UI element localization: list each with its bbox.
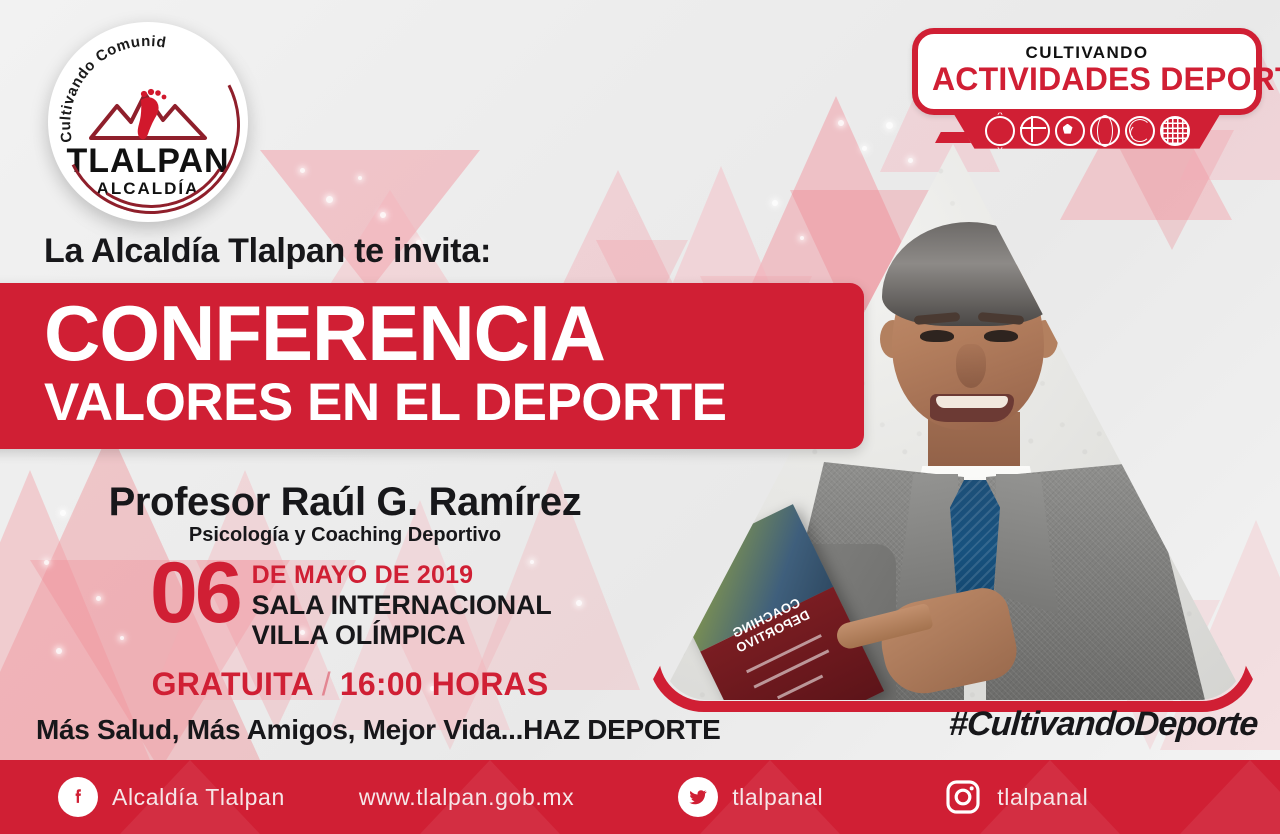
conference-title-block: CONFERENCIA VALORES EN EL DEPORTE bbox=[0, 283, 864, 449]
sparkle-dot bbox=[326, 196, 333, 203]
sparkle-dot bbox=[44, 560, 49, 565]
sparkle-dot bbox=[576, 600, 582, 606]
instagram-icon bbox=[943, 777, 983, 817]
footer-twitter[interactable]: tlalpanal bbox=[678, 777, 823, 817]
footer-instagram-label: tlalpanal bbox=[997, 784, 1088, 811]
footer-bar: Alcaldía Tlalpan www.tlalpan.gob.mx tlal… bbox=[0, 760, 1280, 834]
sports-program-badge: CULTIVANDO ACTIVIDADES DEPORTIVAS bbox=[912, 28, 1262, 149]
sparkle-dot bbox=[56, 648, 62, 654]
campaign-hashtag: #CultivandoDeporte bbox=[948, 705, 1259, 744]
sparkle-dot bbox=[120, 636, 124, 640]
sparkle-dot bbox=[380, 212, 386, 218]
conference-subtitle: VALORES EN EL DEPORTE bbox=[44, 375, 864, 431]
event-poster: Cultivando Comunidad TLALPAN ALCALDÍA CU… bbox=[0, 0, 1280, 834]
badge-plate: CULTIVANDO ACTIVIDADES DEPORTIVAS bbox=[912, 28, 1262, 115]
invite-line: La Alcaldía Tlalpan te invita: bbox=[44, 232, 491, 271]
speaker-name: Profesor Raúl G. Ramírez bbox=[0, 480, 690, 525]
footer-website[interactable]: www.tlalpan.gob.mx bbox=[359, 784, 574, 811]
footer-twitter-label: tlalpanal bbox=[732, 784, 823, 811]
event-venue-line1: SALA INTERNACIONAL bbox=[252, 590, 552, 620]
footer-instagram[interactable]: tlalpanal bbox=[943, 777, 1088, 817]
logo-curve-text-svg: Cultivando Comunidad bbox=[48, 22, 248, 222]
footer-facebook[interactable]: Alcaldía Tlalpan bbox=[58, 777, 285, 817]
sparkle-dot bbox=[96, 596, 101, 601]
facebook-icon bbox=[58, 777, 98, 817]
speaker-role: Psicología y Coaching Deportivo bbox=[0, 524, 690, 547]
badge-top-line: CULTIVANDO bbox=[932, 44, 1242, 61]
conference-title: CONFERENCIA bbox=[44, 295, 864, 371]
sparkle-dot bbox=[838, 120, 844, 126]
sparkle-dot bbox=[358, 176, 362, 180]
event-price: GRATUITA bbox=[152, 666, 313, 702]
event-month-year: DE MAYO DE 2019 bbox=[252, 562, 552, 590]
sparkle-dot bbox=[300, 168, 305, 173]
event-time: 16:00 HORAS bbox=[340, 666, 549, 702]
footer-website-label: www.tlalpan.gob.mx bbox=[359, 784, 574, 811]
footer-facebook-label: Alcaldía Tlalpan bbox=[112, 784, 285, 811]
twitter-icon bbox=[678, 777, 718, 817]
event-day: 06 bbox=[150, 556, 240, 632]
event-date-venue: 06 DE MAYO DE 2019 SALA INTERNACIONAL VI… bbox=[150, 556, 552, 650]
tagline: Más Salud, Más Amigos, Mejor Vida...HAZ … bbox=[36, 714, 720, 746]
badge-main-line: ACTIVIDADES DEPORTIVAS bbox=[932, 63, 1242, 97]
sparkle-dot bbox=[886, 122, 893, 129]
price-separator: / bbox=[322, 666, 331, 702]
tlalpan-logo: Cultivando Comunidad TLALPAN ALCALDÍA bbox=[48, 22, 248, 222]
event-price-time: GRATUITA / 16:00 HORAS bbox=[0, 666, 700, 703]
logo-curve-label: Cultivando Comunidad bbox=[48, 22, 168, 144]
event-venue-line2: VILLA OLÍMPICA bbox=[252, 620, 552, 650]
